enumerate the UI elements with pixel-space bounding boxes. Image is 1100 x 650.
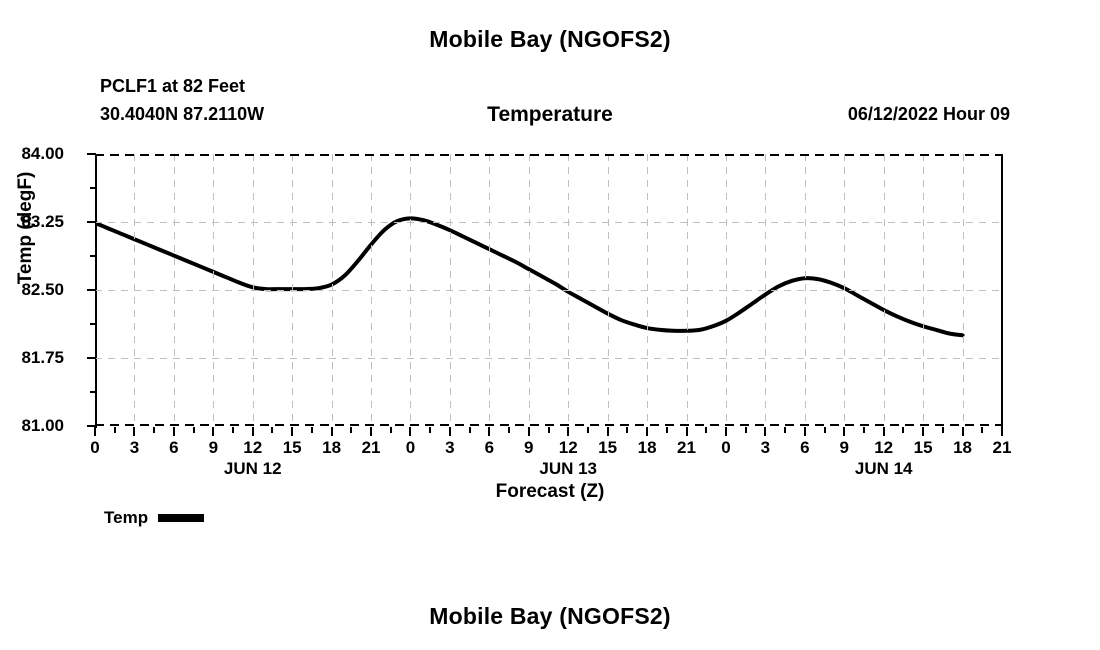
x-axis-tick-major	[804, 427, 806, 436]
gridline-vertical	[332, 154, 333, 426]
x-axis-tick-label: 15	[272, 438, 312, 458]
x-axis-tick-minor	[271, 427, 273, 433]
x-axis-tick-label: 21	[351, 438, 391, 458]
y-axis-tick-major	[87, 221, 96, 223]
x-axis-tick-minor	[863, 427, 865, 433]
x-axis-tick-major	[370, 427, 372, 436]
x-axis-tick-label: 18	[943, 438, 983, 458]
x-axis-tick-label: 15	[588, 438, 628, 458]
gridline-vertical	[529, 154, 530, 426]
gridline-vertical	[450, 154, 451, 426]
plot-area	[95, 154, 1002, 426]
x-axis-tick-major	[1001, 427, 1003, 436]
y-axis-tick-major	[87, 153, 96, 155]
y-axis-tick-label: 81.75	[21, 348, 64, 368]
x-axis-tick-minor	[745, 427, 747, 433]
gridline-vertical	[253, 154, 254, 426]
x-axis-tick-minor	[942, 427, 944, 433]
x-axis-tick-major	[764, 427, 766, 436]
gridline-vertical	[608, 154, 609, 426]
x-axis-tick-major	[173, 427, 175, 436]
y-axis-tick-minor	[90, 255, 96, 257]
x-axis-tick-minor	[469, 427, 471, 433]
x-axis-tick-minor	[705, 427, 707, 433]
x-axis-tick-label: 0	[706, 438, 746, 458]
x-axis-tick-major	[567, 427, 569, 436]
x-axis-tick-label: 12	[233, 438, 273, 458]
plot-bottom-border	[95, 424, 1002, 426]
y-axis-tick-major	[87, 357, 96, 359]
x-axis-tick-minor	[902, 427, 904, 433]
x-axis-tick-label: 0	[390, 438, 430, 458]
gridline-vertical	[765, 154, 766, 426]
x-axis-tick-major	[133, 427, 135, 436]
x-axis-tick-label: 3	[745, 438, 785, 458]
gridline-vertical	[292, 154, 293, 426]
gridline-vertical	[923, 154, 924, 426]
x-axis-tick-minor	[824, 427, 826, 433]
x-axis-tick-major	[291, 427, 293, 436]
gridline-vertical	[647, 154, 648, 426]
x-axis-tick-major	[252, 427, 254, 436]
x-axis-tick-label: 18	[627, 438, 667, 458]
gridline-vertical	[134, 154, 135, 426]
gridline-vertical	[726, 154, 727, 426]
x-axis-tick-minor	[429, 427, 431, 433]
x-axis-tick-major	[94, 427, 96, 436]
gridline-vertical	[174, 154, 175, 426]
legend: Temp	[104, 508, 204, 528]
x-axis-tick-major	[686, 427, 688, 436]
x-axis-tick-label: 6	[154, 438, 194, 458]
gridline-vertical	[410, 154, 411, 426]
x-axis-tick-label: 3	[430, 438, 470, 458]
x-axis-tick-label: 6	[785, 438, 825, 458]
model-run-timestamp: 06/12/2022 Hour 09	[848, 104, 1010, 125]
x-axis-tick-major	[528, 427, 530, 436]
x-axis-tick-major	[646, 427, 648, 436]
gridline-vertical	[568, 154, 569, 426]
legend-swatch-temp	[158, 514, 204, 522]
page-title: Mobile Bay (NGOFS2)	[0, 26, 1100, 53]
x-axis-tick-major	[409, 427, 411, 436]
x-axis-tick-major	[725, 427, 727, 436]
x-axis-tick-minor	[193, 427, 195, 433]
x-axis-tick-label: 0	[75, 438, 115, 458]
y-axis-tick-major	[87, 289, 96, 291]
gridline-horizontal	[95, 290, 1002, 291]
x-axis-tick-label: 9	[509, 438, 549, 458]
y-axis-tick-label: 83.25	[21, 212, 64, 232]
x-axis-tick-major	[331, 427, 333, 436]
station-name: PCLF1 at 82 Feet	[100, 76, 245, 97]
x-axis-tick-major	[488, 427, 490, 436]
x-axis-day-label: JUN 14	[824, 459, 944, 479]
x-axis-tick-major	[922, 427, 924, 436]
y-axis-tick-label: 81.00	[21, 416, 64, 436]
x-axis-day-label: JUN 12	[193, 459, 313, 479]
plot-top-border	[95, 154, 1002, 156]
x-axis-tick-minor	[666, 427, 668, 433]
x-axis-tick-label: 21	[982, 438, 1022, 458]
gridline-horizontal	[95, 222, 1002, 223]
x-axis-tick-major	[449, 427, 451, 436]
x-axis-tick-major	[607, 427, 609, 436]
x-axis-tick-minor	[311, 427, 313, 433]
x-axis-tick-label: 21	[667, 438, 707, 458]
gridline-vertical	[489, 154, 490, 426]
x-axis-label: Forecast (Z)	[0, 481, 1100, 503]
x-axis-tick-label: 3	[114, 438, 154, 458]
x-axis-tick-label: 6	[469, 438, 509, 458]
x-axis-tick-minor	[548, 427, 550, 433]
gridline-vertical	[687, 154, 688, 426]
gridline-vertical	[963, 154, 964, 426]
x-axis-tick-label: 12	[864, 438, 904, 458]
footer-title: Mobile Bay (NGOFS2)	[0, 603, 1100, 630]
y-axis-tick-minor	[90, 323, 96, 325]
y-axis-tick-label: 82.50	[21, 280, 64, 300]
gridline-vertical	[884, 154, 885, 426]
gridline-vertical	[844, 154, 845, 426]
x-axis-tick-label: 9	[824, 438, 864, 458]
x-axis-tick-minor	[153, 427, 155, 433]
x-axis-tick-minor	[232, 427, 234, 433]
x-axis-tick-major	[883, 427, 885, 436]
x-axis-tick-major	[962, 427, 964, 436]
x-axis-tick-major	[212, 427, 214, 436]
x-axis-tick-major	[843, 427, 845, 436]
x-axis-tick-label: 18	[312, 438, 352, 458]
x-axis-tick-minor	[587, 427, 589, 433]
x-axis-tick-minor	[784, 427, 786, 433]
gridline-vertical	[805, 154, 806, 426]
gridline-vertical	[371, 154, 372, 426]
y-axis-tick-label: 84.00	[21, 144, 64, 164]
x-axis-tick-label: 15	[903, 438, 943, 458]
x-axis-tick-minor	[350, 427, 352, 433]
y-axis-tick-minor	[90, 187, 96, 189]
x-axis-tick-minor	[114, 427, 116, 433]
x-axis-tick-label: 9	[193, 438, 233, 458]
y-axis-tick-minor	[90, 391, 96, 393]
x-axis-tick-minor	[626, 427, 628, 433]
x-axis-tick-minor	[981, 427, 983, 433]
x-axis-day-label: JUN 13	[508, 459, 628, 479]
gridline-horizontal	[95, 358, 1002, 359]
gridline-vertical	[213, 154, 214, 426]
x-axis-tick-minor	[508, 427, 510, 433]
legend-label-temp: Temp	[104, 508, 148, 528]
x-axis-tick-label: 12	[548, 438, 588, 458]
x-axis-tick-minor	[390, 427, 392, 433]
